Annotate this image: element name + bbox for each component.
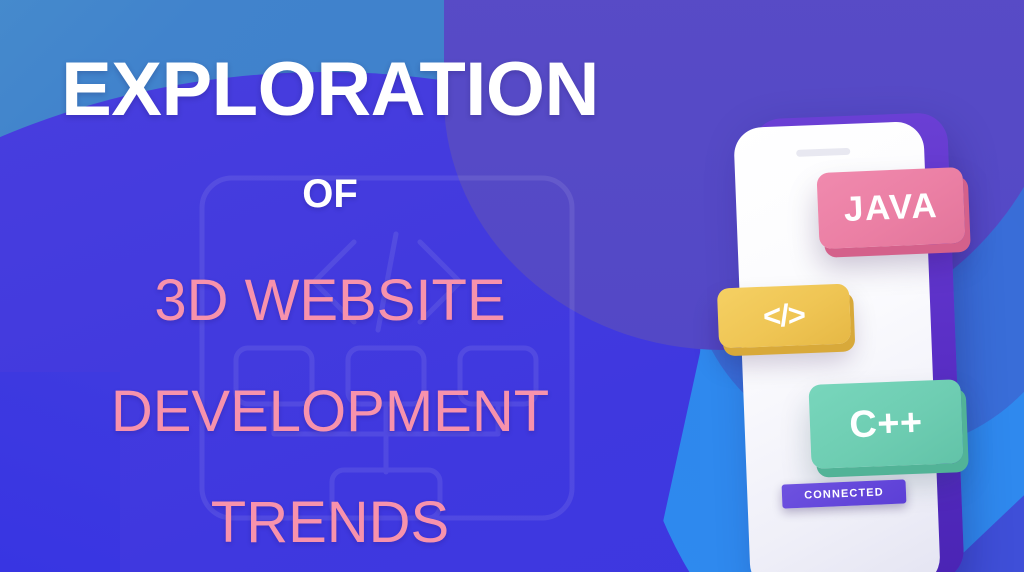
headline-line-exploration: EXPLORATION xyxy=(0,52,660,128)
headline-line-of: OF xyxy=(0,174,660,214)
headline-line-trends: TRENDS xyxy=(0,494,660,552)
phone-speaker-notch xyxy=(796,148,850,157)
badge-java: JAVA xyxy=(816,167,965,249)
headline-block: EXPLORATION OF 3D WEBSITE DEVELOPMENT TR… xyxy=(0,0,660,572)
poster-canvas: EXPLORATION OF 3D WEBSITE DEVELOPMENT TR… xyxy=(0,0,1024,572)
code-brackets-icon: </> xyxy=(717,283,851,348)
headline-line-3d-website: 3D WEBSITE xyxy=(0,272,660,330)
badge-cpp: C++ xyxy=(808,379,963,469)
headline-line-development: DEVELOPMENT xyxy=(0,383,660,441)
